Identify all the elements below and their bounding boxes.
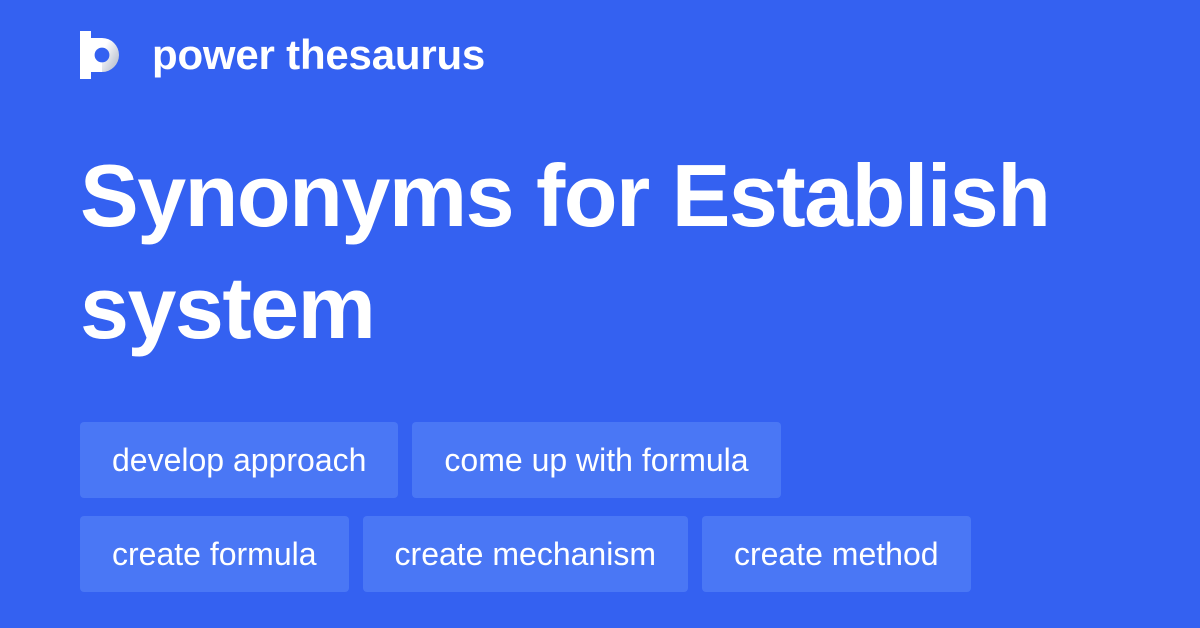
page-title: Synonyms for Establish system [80,140,1080,364]
synonym-chip-row: develop approach come up with formula [80,422,1140,498]
synonym-chip[interactable]: create formula [80,516,349,592]
synonym-chip-list: develop approach come up with formula cr… [80,422,1140,592]
synonym-chip[interactable]: develop approach [80,422,398,498]
synonym-chip[interactable]: create mechanism [363,516,688,592]
power-thesaurus-b-logo-icon [80,31,126,79]
synonym-chip[interactable]: come up with formula [412,422,780,498]
synonym-chip[interactable]: create method [702,516,971,592]
synonym-chip-row: create formula create mechanism create m… [80,516,1140,592]
brand-logo[interactable]: power thesaurus [80,28,485,82]
brand-name: power thesaurus [152,34,485,76]
